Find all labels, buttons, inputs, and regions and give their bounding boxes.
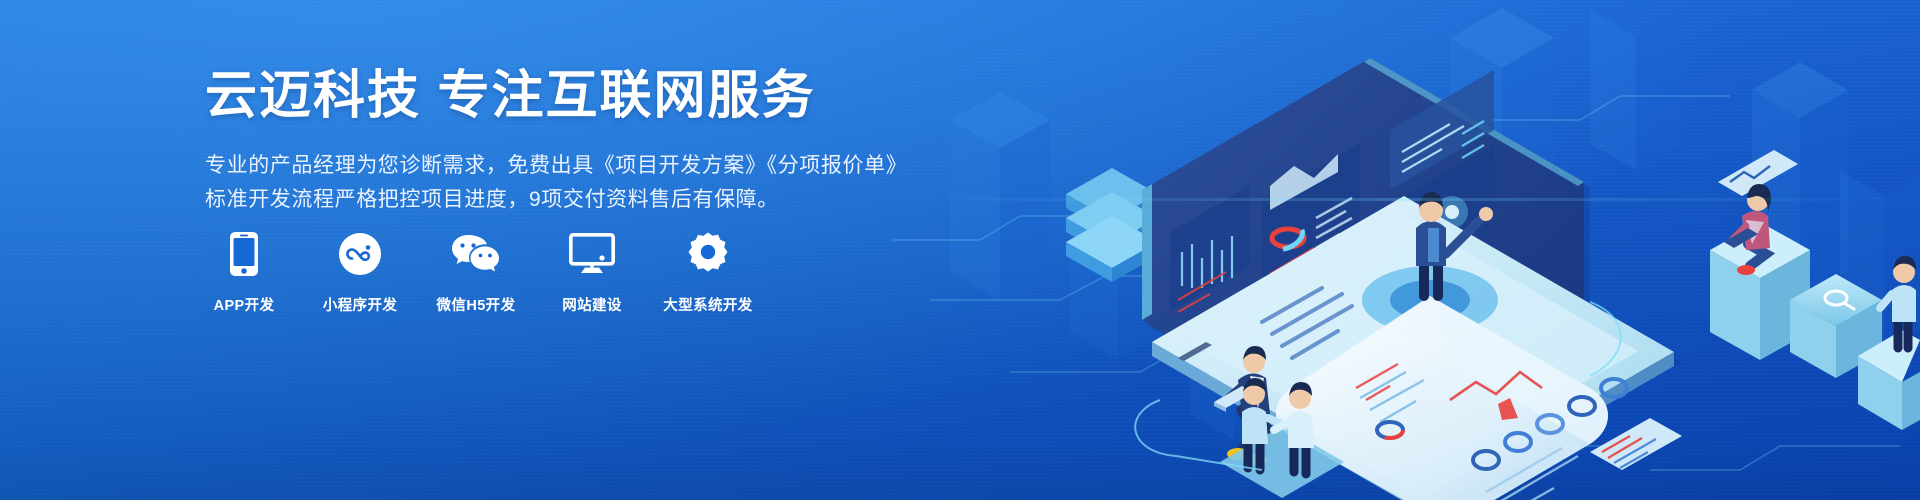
monitor-icon [569, 228, 615, 280]
subtitle-line-2: 标准开发流程严格把控项目进度，9项交付资料售后有保障。 [205, 183, 925, 217]
service-label: 大型系统开发 [663, 294, 752, 315]
service-item-app[interactable]: APP开发 [205, 228, 283, 315]
mini-program-icon [338, 228, 382, 280]
service-label: 网站建设 [562, 294, 622, 315]
hero-banner: 云迈科技 专注互联网服务 专业的产品经理为您诊断需求，免费出具《项目开发方案》《… [0, 0, 1920, 500]
hero-subtitle: 专业的产品经理为您诊断需求，免费出具《项目开发方案》《分项报价单》 标准开发流程… [205, 149, 925, 217]
wechat-icon [450, 228, 502, 280]
hero-illustration [890, 0, 1920, 500]
service-label: APP开发 [214, 294, 275, 315]
service-label: 微信H5开发 [437, 294, 516, 315]
service-item-wechat-h5[interactable]: 微信H5开发 [437, 228, 515, 315]
gear-icon [685, 228, 731, 280]
service-item-mini-program[interactable]: 小程序开发 [321, 228, 399, 315]
subtitle-line-1: 专业的产品经理为您诊断需求，免费出具《项目开发方案》《分项报价单》 [205, 149, 925, 183]
service-item-website[interactable]: 网站建设 [553, 228, 631, 315]
page-title: 云迈科技 专注互联网服务 [205, 66, 925, 127]
mobile-phone-icon [229, 228, 259, 280]
service-item-large-system[interactable]: 大型系统开发 [669, 228, 747, 315]
hero-copy: 云迈科技 专注互联网服务 专业的产品经理为您诊断需求，免费出具《项目开发方案》《… [205, 66, 925, 217]
service-list: APP开发 小程序开发 [205, 228, 747, 315]
service-label: 小程序开发 [323, 294, 398, 315]
